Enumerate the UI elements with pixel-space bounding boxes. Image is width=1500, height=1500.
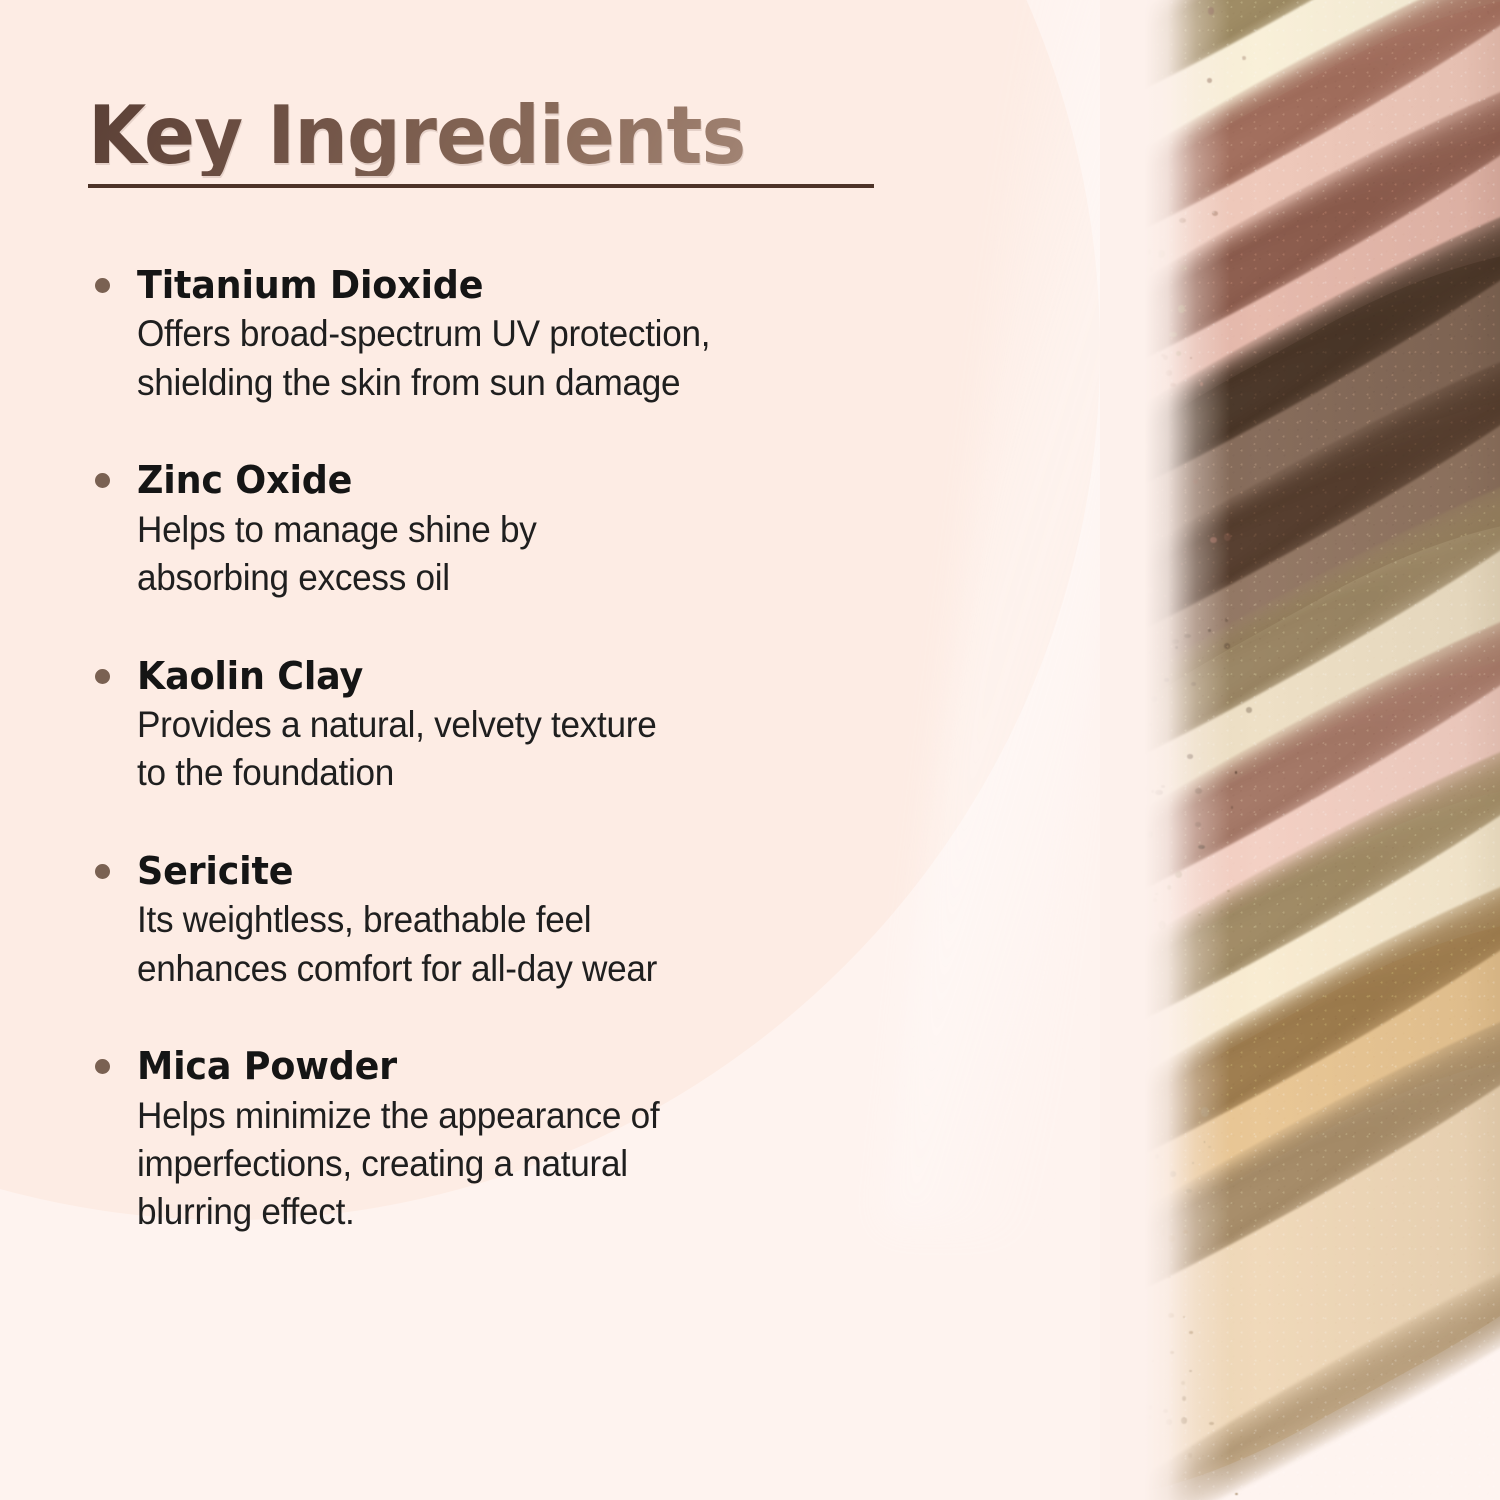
ingredient-heading-row: Titanium Dioxide: [88, 262, 988, 308]
list-item: Titanium Dioxide Offers broad-spectrum U…: [88, 262, 988, 407]
list-item: Zinc Oxide Helps to manage shine by abso…: [88, 457, 988, 602]
ingredient-heading-row: Mica Powder: [88, 1043, 988, 1089]
ingredient-heading-row: Sericite: [88, 848, 988, 894]
list-item: Mica Powder Helps minimize the appearanc…: [88, 1043, 988, 1237]
list-item: Sericite Its weightless, breathable feel…: [88, 848, 988, 993]
powder-crumb: [1235, 1493, 1238, 1495]
ingredient-name: Sericite: [137, 848, 293, 894]
bullet-dot-icon: [95, 669, 110, 684]
ingredient-description: Helps minimize the appearance of imperfe…: [137, 1092, 945, 1237]
bullet-dot-icon: [95, 864, 110, 879]
ingredient-description: Helps to manage shine by absorbing exces…: [137, 506, 945, 603]
ingredient-heading-row: Kaolin Clay: [88, 653, 988, 699]
ingredient-name: Zinc Oxide: [137, 457, 352, 503]
ingredient-description: Its weightless, breathable feel enhances…: [137, 896, 945, 993]
ingredient-name: Mica Powder: [137, 1043, 397, 1089]
ingredient-heading-row: Zinc Oxide: [88, 457, 988, 503]
bullet-dot-icon: [95, 278, 110, 293]
ingredient-list: Titanium Dioxide Offers broad-spectrum U…: [88, 262, 988, 1237]
powder-swatch-image: [1100, 0, 1500, 1500]
ingredient-description: Provides a natural, velvety texture to t…: [137, 701, 945, 798]
list-spacer: [88, 993, 988, 1043]
ingredient-name: Kaolin Clay: [137, 653, 363, 699]
page-title-block: Key Ingredients: [88, 96, 888, 176]
list-spacer: [88, 603, 988, 653]
content-column: Key Ingredients Titanium Dioxide Offers …: [0, 0, 1060, 1500]
page-title-underline: [88, 184, 874, 188]
bullet-dot-icon: [95, 473, 110, 488]
page-title: Key Ingredients: [88, 96, 840, 176]
list-item: Kaolin Clay Provides a natural, velvety …: [88, 653, 988, 798]
ingredient-description: Offers broad-spectrum UV protection, shi…: [137, 310, 945, 407]
ingredients-infographic: Key Ingredients Titanium Dioxide Offers …: [0, 0, 1500, 1500]
ingredient-name: Titanium Dioxide: [137, 262, 483, 308]
list-spacer: [88, 798, 988, 848]
list-spacer: [88, 407, 988, 457]
bullet-dot-icon: [95, 1059, 110, 1074]
